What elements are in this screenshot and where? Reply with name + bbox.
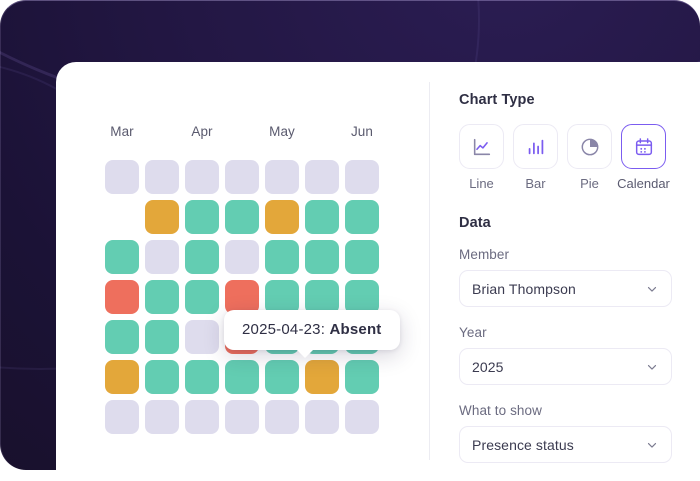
calendar-cell[interactable] (225, 360, 259, 394)
calendar-cell[interactable] (185, 360, 219, 394)
month-label-apr: Apr (191, 124, 212, 139)
calendar-cell[interactable] (305, 240, 339, 274)
calendar-grid (105, 160, 385, 440)
chart-type-calendar[interactable]: Calendar (621, 124, 666, 191)
calendar-cell[interactable] (185, 400, 219, 434)
select-value-member: Brian Thompson (472, 281, 576, 297)
calendar-cell[interactable] (265, 160, 299, 194)
calendar-cell[interactable] (305, 280, 339, 314)
calendar-cell[interactable] (305, 200, 339, 234)
label-what-to-show: What to show (459, 403, 672, 418)
chart-type-label: Line (469, 176, 494, 191)
calendar-cell[interactable] (105, 320, 139, 354)
bar-chart-icon[interactable] (513, 124, 558, 169)
chart-type-heading: Chart Type (459, 92, 672, 108)
line-chart-icon[interactable] (459, 124, 504, 169)
label-year: Year (459, 325, 672, 340)
select-year[interactable]: 2025 (459, 348, 672, 385)
calendar-cell[interactable] (185, 280, 219, 314)
tooltip-date: 2025-04-23: (242, 321, 329, 338)
chart-type-pie[interactable]: Pie (567, 124, 612, 191)
calendar-cell[interactable] (345, 160, 379, 194)
calendar-cell-empty (105, 200, 139, 234)
chart-type-label: Calendar (617, 176, 670, 191)
calendar-cell[interactable] (265, 400, 299, 434)
select-value-what-to-show: Presence status (472, 437, 574, 453)
chart-type-bar[interactable]: Bar (513, 124, 558, 191)
cell-tooltip: 2025-04-23: Absent (224, 310, 400, 350)
calendar-cell[interactable] (265, 360, 299, 394)
calendar-row (105, 400, 385, 440)
calendar-cell[interactable] (145, 320, 179, 354)
calendar-cell[interactable] (225, 160, 259, 194)
calendar-cell[interactable] (345, 400, 379, 434)
calendar-cell[interactable] (345, 240, 379, 274)
calendar-cell[interactable] (145, 280, 179, 314)
calendar-cell[interactable] (345, 200, 379, 234)
chevron-down-icon (645, 282, 659, 296)
month-label-jun: Jun (351, 124, 373, 139)
calendar-cell[interactable] (145, 160, 179, 194)
calendar-cell[interactable] (345, 360, 379, 394)
calendar-row (105, 240, 385, 280)
calendar-cell[interactable] (225, 280, 259, 314)
calendar-cell[interactable] (105, 160, 139, 194)
month-label-mar: Mar (110, 124, 134, 139)
data-fields: MemberBrian ThompsonYear2025What to show… (459, 247, 672, 463)
calendar-cell[interactable] (185, 200, 219, 234)
select-value-year: 2025 (472, 359, 504, 375)
tooltip-arrow (296, 349, 314, 358)
calendar-cell[interactable] (185, 240, 219, 274)
calendar-cell[interactable] (185, 160, 219, 194)
select-member[interactable]: Brian Thompson (459, 270, 672, 307)
calendar-cell[interactable] (145, 360, 179, 394)
month-axis: MarAprMayJun (105, 124, 405, 144)
calendar-cell[interactable] (145, 400, 179, 434)
calendar-cell[interactable] (105, 280, 139, 314)
calendar-cell[interactable] (225, 200, 259, 234)
chart-card: MarAprMayJun 2025-04-23: Absent Chart Ty… (56, 62, 700, 481)
select-what-to-show[interactable]: Presence status (459, 426, 672, 463)
calendar-cell[interactable] (145, 240, 179, 274)
calendar-cell[interactable] (305, 160, 339, 194)
calendar-cell[interactable] (345, 280, 379, 314)
chart-type-line[interactable]: Line (459, 124, 504, 191)
calendar-cell[interactable] (305, 360, 339, 394)
calendar-cell[interactable] (305, 400, 339, 434)
calendar-cell[interactable] (105, 360, 139, 394)
calendar-row (105, 160, 385, 200)
calendar-row (105, 360, 385, 400)
calendar-heatmap: MarAprMayJun 2025-04-23: Absent (56, 62, 429, 481)
calendar-cell[interactable] (265, 240, 299, 274)
data-heading: Data (459, 215, 672, 231)
month-label-may: May (269, 124, 295, 139)
calendar-cell[interactable] (265, 280, 299, 314)
calendar-cell[interactable] (105, 400, 139, 434)
options-panel: Chart Type LineBarPieCalendar Data Membe… (430, 62, 700, 481)
calendar-row (105, 200, 385, 240)
calendar-cell[interactable] (265, 200, 299, 234)
chart-type-label: Pie (580, 176, 599, 191)
tooltip-status: Absent (329, 321, 381, 338)
label-member: Member (459, 247, 672, 262)
calendar-icon[interactable] (621, 124, 666, 169)
chevron-down-icon (645, 438, 659, 452)
calendar-cell[interactable] (145, 200, 179, 234)
calendar-cell[interactable] (225, 240, 259, 274)
chevron-down-icon (645, 360, 659, 374)
pie-chart-icon[interactable] (567, 124, 612, 169)
calendar-cell[interactable] (185, 320, 219, 354)
calendar-cell[interactable] (105, 240, 139, 274)
calendar-cell[interactable] (225, 400, 259, 434)
chart-type-label: Bar (525, 176, 545, 191)
chart-type-picker: LineBarPieCalendar (459, 124, 672, 191)
app-root: MarAprMayJun 2025-04-23: Absent Chart Ty… (0, 0, 700, 481)
